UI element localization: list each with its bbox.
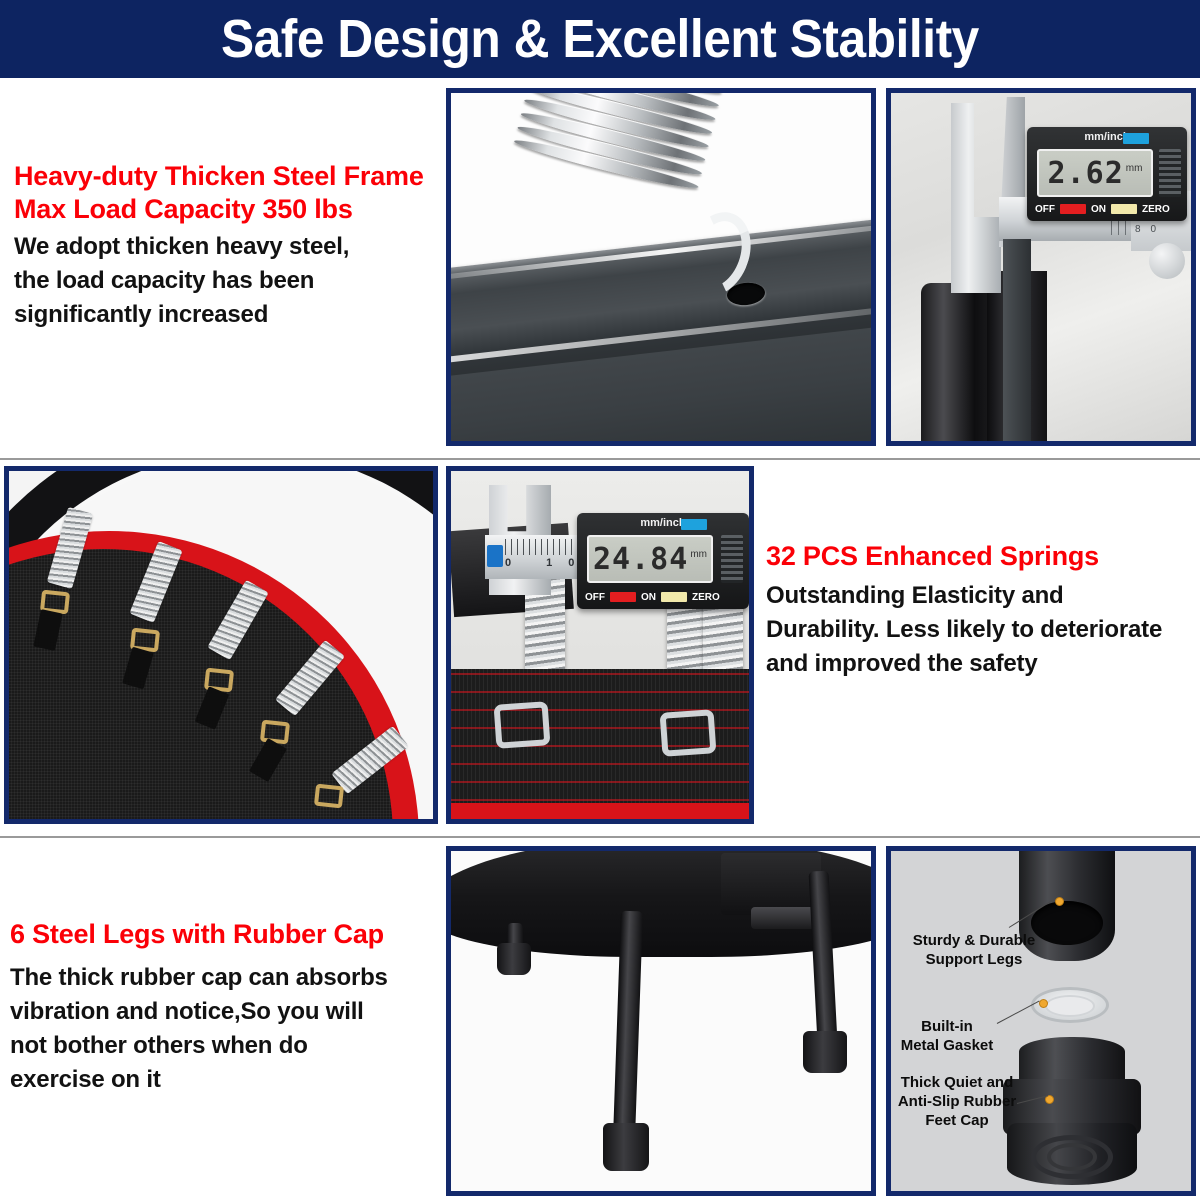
caliper2-zero-switch[interactable] [661, 592, 687, 602]
spring-triangle-hook [314, 784, 344, 809]
steel-frame-body: We adopt thicken heavy steel, the load c… [14, 230, 444, 332]
steel-frame-headline-2: Max Load Capacity 350 lbs [14, 193, 444, 226]
caliper2-off-label: OFF [585, 592, 605, 603]
caliper1-unit-button[interactable] [1123, 133, 1149, 144]
section-steel-frame-text: Heavy-duty Thicken Steel Frame Max Load … [14, 160, 444, 332]
infographic-page: Safe Design & Excellent Stability Heavy-… [0, 0, 1200, 1200]
photo-rim-springs [4, 466, 438, 824]
caliper1-thumbwheel [1149, 243, 1185, 279]
caliper2-display-head: mm/inch 24.84 mm OFF ON ZERO [577, 513, 749, 609]
caliper1-zero-label: ZERO [1142, 204, 1170, 215]
caliper2-on-label: ON [641, 592, 656, 603]
caliper2-grill [721, 535, 743, 583]
caliper1-on-label: ON [1091, 204, 1106, 215]
caliper1-off-label: OFF [1035, 204, 1055, 215]
callout-label-metal-gasket: Built-in Metal Gasket [891, 1017, 1003, 1055]
caliper1-display-head: mm/inch 2.62 mm OFF ON ZERO [1027, 127, 1187, 221]
photo-caliper-spring-diameter: 0 10 20 mm/inch 24.84 mm OFF ON ZERO [446, 466, 754, 824]
caliper2-assembly: 0 10 20 mm/inch 24.84 mm OFF ON ZERO [461, 479, 749, 679]
rubber-foot-cap [603, 1123, 649, 1171]
caliper1-value: 2.62 [1048, 156, 1124, 191]
section-springs-text: 32 PCS Enhanced Springs Outstanding Elas… [766, 540, 1196, 681]
caliper2-zero-label: ZERO [692, 592, 720, 603]
caliper2-lcd: 24.84 mm [587, 535, 713, 583]
spring-triangle-hook [494, 701, 551, 749]
bracket-hinge [751, 907, 817, 929]
caliper1-stem [1003, 239, 1031, 446]
spring-triangle-hook [660, 709, 717, 757]
legs-body: The thick rubber cap can absorbs vibrati… [10, 961, 450, 1097]
callout-label-rubber-feet-cap: Thick Quiet and Anti-Slip Rubber Feet Ca… [891, 1073, 1023, 1130]
caliper2-unit-button[interactable] [681, 519, 707, 530]
caliper2-button-row: OFF ON ZERO [585, 589, 731, 605]
callout-dot-metal-gasket [1039, 999, 1048, 1008]
caliper1-mm-inch-label: mm/inch [1027, 131, 1187, 143]
springs-body: Outstanding Elasticity and Durability. L… [766, 579, 1196, 681]
photo-steel-frame [446, 88, 876, 446]
section-legs-text: 6 Steel Legs with Rubber Cap The thick r… [10, 918, 450, 1097]
caliper2-unit: mm [690, 549, 707, 560]
caliper2-power-switch[interactable] [610, 592, 636, 602]
header-banner: Safe Design & Excellent Stability [0, 0, 1200, 78]
folding-bracket [721, 853, 821, 915]
photo-support-legs [446, 846, 876, 1196]
cap-tread-inner [1047, 1143, 1097, 1171]
caliper2-brand-mark [487, 545, 503, 567]
callout-line-metal-gasket [997, 1001, 1040, 1024]
mat-red-edge [451, 803, 749, 819]
callout-dot-support-legs [1055, 897, 1064, 906]
caliper2-value: 24.84 [593, 542, 688, 577]
row-divider-1 [0, 458, 1200, 460]
caliper1-unit: mm [1126, 163, 1143, 174]
callout-label-support-legs: Sturdy & Durable Support Legs [899, 931, 1049, 969]
springs-headline: 32 PCS Enhanced Springs [766, 540, 1196, 573]
metal-gasket-inner [1045, 995, 1095, 1017]
photo-caliper-tube-thickness: 0 80 mm/inch 2.62 mm OFF ON ZERO [886, 88, 1196, 446]
caliper1-button-row: OFF ON ZERO [1035, 201, 1181, 217]
caliper1-grill [1159, 149, 1181, 197]
row-divider-2 [0, 836, 1200, 838]
steel-frame-headline-1: Heavy-duty Thicken Steel Frame [14, 160, 444, 193]
caliper1-power-switch[interactable] [1060, 204, 1086, 214]
diagram-foot-cap-exploded: Sturdy & Durable Support Legs Built-in M… [886, 846, 1196, 1196]
rubber-foot-cap [497, 943, 531, 975]
caliper1-zero-switch[interactable] [1111, 204, 1137, 214]
legs-headline: 6 Steel Legs with Rubber Cap [10, 918, 450, 951]
rubber-foot-cap [803, 1031, 847, 1073]
page-title: Safe Design & Excellent Stability [221, 8, 979, 70]
caliper1-lcd: 2.62 mm [1037, 149, 1153, 197]
caliper2-mm-inch-label: mm/inch [577, 517, 749, 529]
spring-triangle-hook [260, 720, 290, 745]
